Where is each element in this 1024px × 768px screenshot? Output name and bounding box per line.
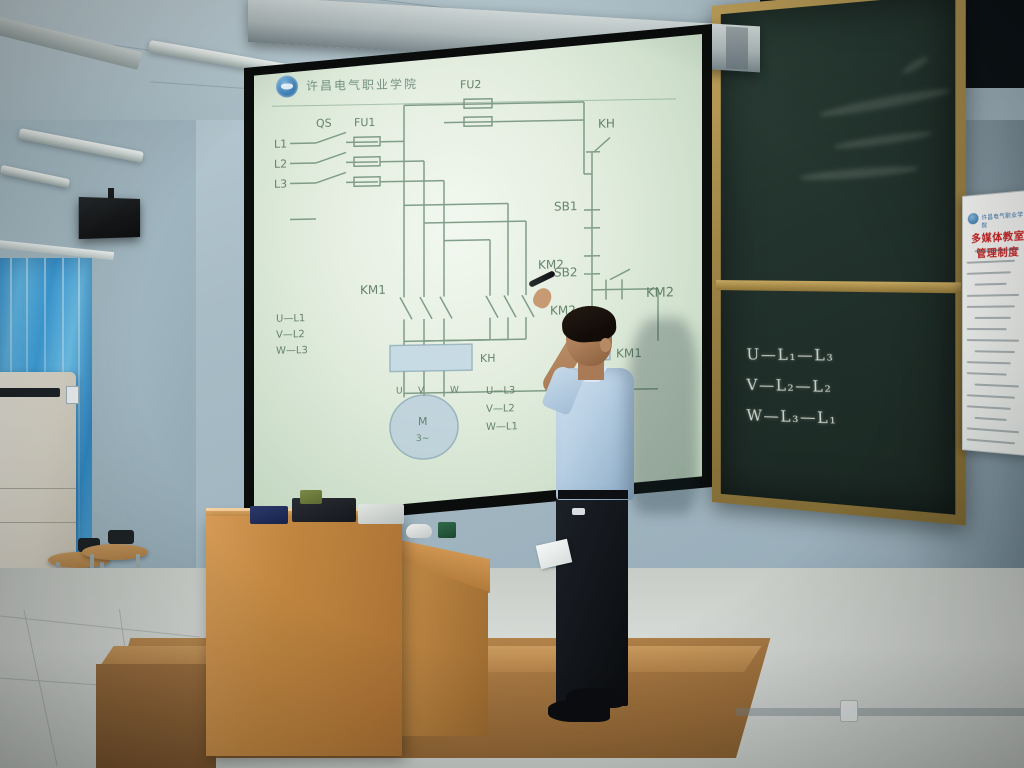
label-kh-lower: KH xyxy=(480,352,495,365)
label-km2: KM2 xyxy=(538,257,564,271)
poster-text-line xyxy=(975,384,1019,388)
label-motor-v: V xyxy=(418,386,425,396)
label-motor-phase: 3~ xyxy=(416,434,429,444)
label-motor: M xyxy=(418,415,427,428)
label-qs: QS xyxy=(316,117,332,130)
reverse-map-2: V—L2 xyxy=(486,403,515,415)
person-ear xyxy=(600,338,611,352)
wall-speaker xyxy=(79,197,140,239)
classroom-rules-poster: 许昌电气职业学院 多媒体教室管理制度 xyxy=(962,190,1024,456)
equipment-dark-box[interactable] xyxy=(250,506,288,524)
label-motor-u: U xyxy=(396,386,403,396)
equipment-panel[interactable] xyxy=(300,490,322,504)
person-shadow xyxy=(628,318,698,514)
reverse-map-1: U—L3 xyxy=(486,385,515,397)
forward-map-3: W—L3 xyxy=(276,345,308,357)
chalk-note-line: V—L₂—L₂ xyxy=(746,376,832,397)
label-l2: L2 xyxy=(274,157,287,170)
equipment-white-box[interactable] xyxy=(358,504,404,524)
poster-heading: 多媒体教室管理制度 xyxy=(969,227,1024,261)
poster-text-line xyxy=(967,394,1015,399)
poster-text-line xyxy=(975,317,1011,319)
computer-mouse[interactable] xyxy=(406,524,432,538)
poster-text-line xyxy=(967,405,1011,410)
label-l1: L1 xyxy=(274,137,287,150)
label-fu2: FU2 xyxy=(460,78,481,91)
poster-text-line xyxy=(967,271,1011,275)
reverse-map-3: W—L1 xyxy=(486,421,518,433)
poster-text-line xyxy=(967,305,1015,308)
platform-front xyxy=(96,664,216,768)
chalk-note-line: W—L₃—L₁ xyxy=(746,406,837,428)
classroom-scene: U—L₁—L₃ V—L₂—L₂ W—L₃—L₁ 许昌电气职业学院 多媒体教室管理… xyxy=(0,0,1024,768)
chalkboard-surface: U—L₁—L₃ V—L₂—L₂ W—L₃—L₁ xyxy=(721,0,956,515)
poster-text-line xyxy=(967,438,1015,444)
label-km2-right: KM2 xyxy=(646,285,674,301)
label-l3: L3 xyxy=(274,177,287,190)
poster-text-line xyxy=(967,372,1007,376)
person-belt xyxy=(558,490,628,499)
forward-map-1: U—L1 xyxy=(276,313,305,325)
chalkboard: U—L₁—L₃ V—L₂—L₂ W—L₃—L₁ xyxy=(712,0,966,525)
forward-map-2: V—L2 xyxy=(276,329,305,341)
label-kh: KH xyxy=(598,116,615,130)
equipment-on-stool xyxy=(108,530,134,544)
person-shoe xyxy=(566,688,624,708)
poster-text-line xyxy=(975,350,1015,353)
chalk-note-line: U—L₁—L₃ xyxy=(746,345,834,365)
poster-text-line xyxy=(967,361,1011,364)
label-sb1: SB1 xyxy=(554,199,577,213)
label-km1: KM1 xyxy=(360,283,386,297)
poster-text-line xyxy=(967,339,1019,342)
person-trousers xyxy=(556,492,628,706)
power-outlet[interactable] xyxy=(840,700,858,722)
label-fu1: FU1 xyxy=(354,116,375,129)
poster-text-line xyxy=(967,427,1019,433)
school-logo-icon xyxy=(968,213,979,225)
lecture-podium[interactable] xyxy=(206,516,402,756)
poster-text-line xyxy=(967,294,1019,297)
poster-text-line xyxy=(975,417,1007,421)
label-motor-w: W xyxy=(450,385,459,395)
screen-bracket xyxy=(726,26,748,69)
poster-text-line xyxy=(967,328,1007,330)
poster-text-line xyxy=(975,283,1007,286)
wristwatch xyxy=(572,508,585,515)
ac-vent xyxy=(0,388,60,397)
baseboard xyxy=(736,708,1024,716)
ac-control-panel[interactable] xyxy=(66,386,79,404)
equipment-green-box[interactable] xyxy=(438,522,456,538)
